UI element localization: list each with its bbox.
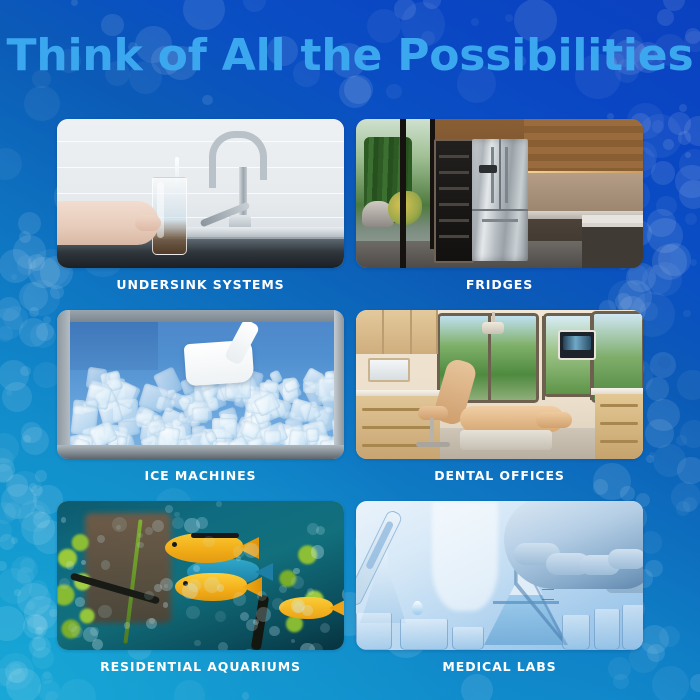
- caption-ice-machines: ICE MACHINES: [57, 468, 344, 483]
- application-grid: UNDERSINK SYSTEMS: [57, 119, 643, 692]
- thumbnail-residential-aquariums[interactable]: [57, 501, 344, 650]
- page-title: Think of All the Possibilities: [0, 30, 700, 82]
- grid-cell-medical-labs[interactable]: MEDICAL LABS: [356, 501, 643, 674]
- grid-cell-ice-machines[interactable]: ICE MACHINES: [57, 310, 344, 483]
- grid-row: UNDERSINK SYSTEMS: [57, 119, 643, 292]
- image-medical-lab: [356, 501, 643, 650]
- caption-residential-aquariums: RESIDENTIAL AQUARIUMS: [57, 659, 344, 674]
- grid-row: ICE MACHINES: [57, 310, 643, 483]
- thumbnail-dental-offices[interactable]: [356, 310, 643, 459]
- grid-row: RESIDENTIAL AQUARIUMS: [57, 501, 643, 674]
- grid-cell-dental-offices[interactable]: DENTAL OFFICES: [356, 310, 643, 483]
- caption-dental-offices: DENTAL OFFICES: [356, 468, 643, 483]
- grid-cell-residential-aquariums[interactable]: RESIDENTIAL AQUARIUMS: [57, 501, 344, 674]
- grid-cell-undersink-systems[interactable]: UNDERSINK SYSTEMS: [57, 119, 344, 292]
- poster-canvas: Think of All the Possibilities: [0, 0, 700, 700]
- caption-undersink-systems: UNDERSINK SYSTEMS: [57, 277, 344, 292]
- image-ice-machine: [57, 310, 344, 459]
- thumbnail-ice-machines[interactable]: [57, 310, 344, 459]
- image-dental-office: [356, 310, 643, 459]
- caption-fridges: FRIDGES: [356, 277, 643, 292]
- image-undersink-faucet: [57, 119, 344, 268]
- thumbnail-fridges[interactable]: [356, 119, 643, 268]
- thumbnail-medical-labs[interactable]: [356, 501, 643, 650]
- grid-cell-fridges[interactable]: FRIDGES: [356, 119, 643, 292]
- caption-medical-labs: MEDICAL LABS: [356, 659, 643, 674]
- image-kitchen-fridge: [356, 119, 643, 268]
- image-aquarium-fish: [57, 501, 344, 650]
- thumbnail-undersink-systems[interactable]: [57, 119, 344, 268]
